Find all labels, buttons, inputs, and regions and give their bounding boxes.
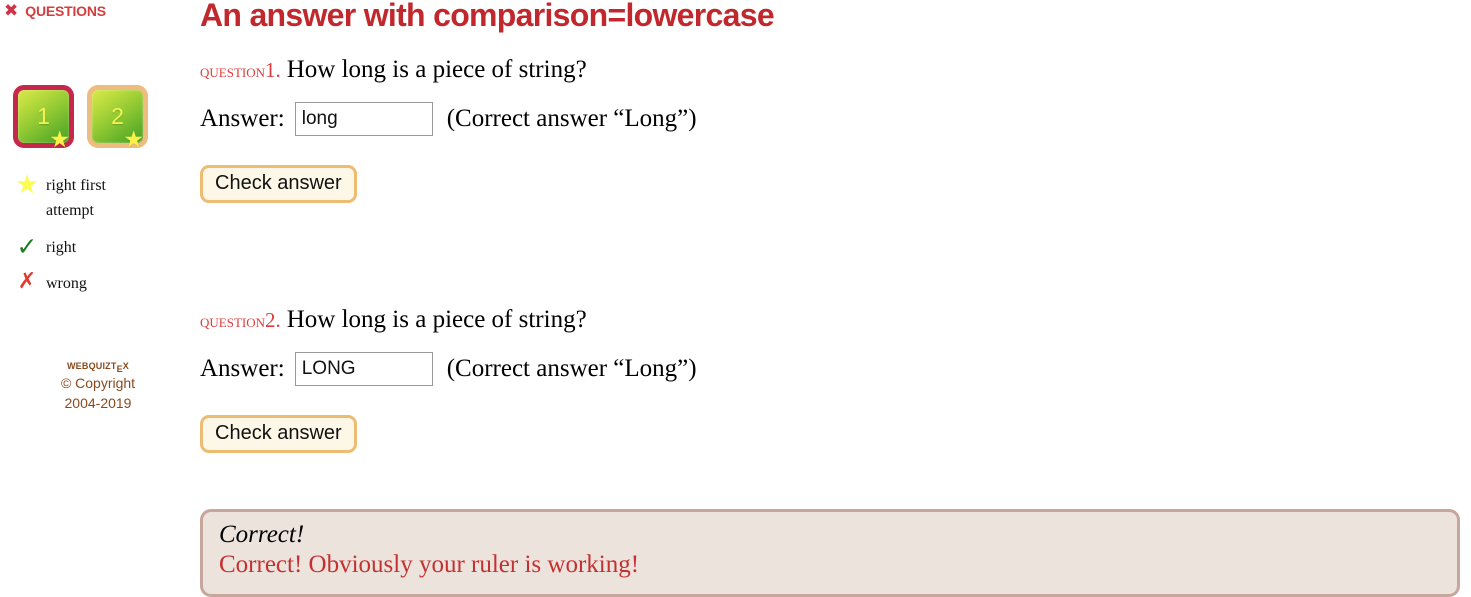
page-title: An answer with comparison=lowercase xyxy=(200,0,774,34)
check-icon: ✓ xyxy=(8,234,46,260)
question-2-number: 2. xyxy=(265,308,281,332)
legend-item-right: ✓ right xyxy=(8,234,188,260)
legend: ★ right first attempt ✓ right ✗ wrong xyxy=(8,172,188,306)
cross-icon: ✗ xyxy=(8,270,46,293)
feedback-body: Correct! Obviously your ruler is working… xyxy=(219,550,1441,580)
answer-label: Answer: xyxy=(200,355,285,383)
legend-item-label: right first attempt xyxy=(46,172,132,224)
sidebar-title[interactable]: Questions xyxy=(25,0,106,20)
question-1-prompt: Question1. How long is a piece of string… xyxy=(200,56,697,84)
copyright-line: © Copyright xyxy=(0,374,196,394)
question-block-1: Question1. How long is a piece of string… xyxy=(200,56,697,203)
question-nav-button-2-number: 2 xyxy=(92,105,143,128)
question-1-answer-row: Answer: (Correct answer “Long”) xyxy=(200,102,697,136)
main-content: An answer with comparison=lowercase Ques… xyxy=(196,0,1471,593)
star-icon: ★ xyxy=(49,129,70,152)
question-nav-button-2[interactable]: 2 ★ xyxy=(87,85,148,148)
check-answer-button-2[interactable]: Check answer xyxy=(200,415,357,453)
answer-input[interactable] xyxy=(295,352,433,386)
feedback-heading: Correct! xyxy=(219,520,1441,549)
feedback-box: Correct! Correct! Obviously your ruler i… xyxy=(200,509,1460,597)
sidebar-footer: WebQuizTEX © Copyright 2004-2019 xyxy=(0,356,196,414)
question-2-label: Question2. xyxy=(200,308,281,333)
close-x-icon[interactable]: ✖ xyxy=(4,3,18,20)
legend-item-label: wrong xyxy=(46,270,87,296)
question-1-label: Question1. xyxy=(200,58,281,83)
question-1-text: How long is a piece of string? xyxy=(287,56,587,84)
question-nav-button-1[interactable]: 1 ★ xyxy=(13,85,74,148)
star-icon: ★ xyxy=(8,172,46,199)
logo-x: X xyxy=(123,357,129,372)
legend-item-label: right xyxy=(46,234,76,260)
question-2-label-text: Question xyxy=(200,311,265,332)
sidebar-header: ✖ Questions xyxy=(4,0,106,20)
check-answer-button-1[interactable]: Check answer xyxy=(200,165,357,203)
question-1-number: 1. xyxy=(265,58,281,82)
question-nav-button-1-number: 1 xyxy=(18,105,69,128)
question-nav-buttons: 1 ★ 2 ★ xyxy=(13,85,148,148)
correct-answer-note: (Correct answer “Long”) xyxy=(447,105,697,133)
question-1-label-text: Question xyxy=(200,61,265,82)
legend-item-wrong: ✗ wrong xyxy=(8,270,188,296)
legend-item-right-first-attempt: ★ right first attempt xyxy=(8,172,188,224)
correct-answer-note: (Correct answer “Long”) xyxy=(447,355,697,383)
star-icon: ★ xyxy=(123,129,144,152)
copyright-years: 2004-2019 xyxy=(0,394,196,414)
question-2-text: How long is a piece of string? xyxy=(287,306,587,334)
logo-text: WebQuiz xyxy=(67,357,111,372)
answer-label: Answer: xyxy=(200,105,285,133)
webquiztex-logo: WebQuizTEX xyxy=(0,356,196,374)
question-2-answer-row: Answer: (Correct answer “Long”) xyxy=(200,352,697,386)
sidebar: ✖ Questions 1 ★ 2 ★ ★ right first attemp… xyxy=(0,0,196,593)
answer-input[interactable] xyxy=(295,102,433,136)
logo-e: E xyxy=(117,359,123,377)
question-block-2: Question2. How long is a piece of string… xyxy=(200,306,697,453)
question-2-prompt: Question2. How long is a piece of string… xyxy=(200,306,697,334)
